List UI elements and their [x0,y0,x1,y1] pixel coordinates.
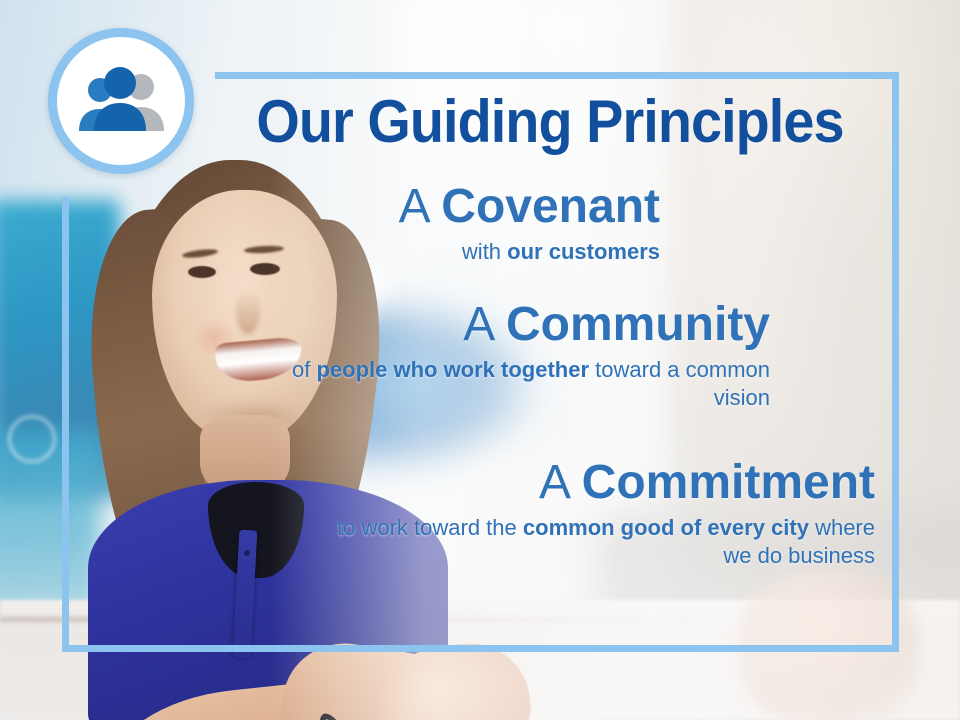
principle-subtext-covenant: with our customers [235,238,660,266]
subtext-plain: of [292,357,316,382]
principle-keyword: Community [506,298,770,351]
shirt-button [244,550,250,556]
principle-subtext-community: of people who work together toward a com… [285,356,770,412]
principle-title-community: A Community [285,300,770,350]
nose [236,290,260,334]
eye-left [188,266,216,278]
subtext-emphasis: common good of every city [523,515,809,540]
principle-lead: A [539,456,582,509]
principle-title-covenant: A Covenant [235,182,660,232]
principle-subtext-commitment: to work toward the common good of every … [335,514,875,570]
principle-keyword: Covenant [441,180,660,233]
subtext-plain: to work toward the [337,515,523,540]
principle-title-commitment: A Commitment [335,458,875,508]
subtext-emphasis: people who work together [316,357,589,382]
principle-community: A Community of people who work together … [285,300,770,412]
principle-lead: A [463,298,506,351]
principle-lead: A [399,180,442,233]
people-group-badge [48,28,194,174]
subtext-emphasis: our customers [507,239,660,264]
people-group-icon [73,65,169,137]
principle-keyword: Commitment [582,456,875,509]
graphic-canvas: FLOW FLOW [0,0,960,720]
principle-commitment: A Commitment to work toward the common g… [335,458,875,570]
principle-covenant: A Covenant with our customers [235,182,660,266]
subtext-plain: toward a common vision [589,357,770,410]
customer-hand [740,570,920,720]
page-title: Our Guiding Principles [238,92,861,152]
subtext-plain: with [462,239,507,264]
